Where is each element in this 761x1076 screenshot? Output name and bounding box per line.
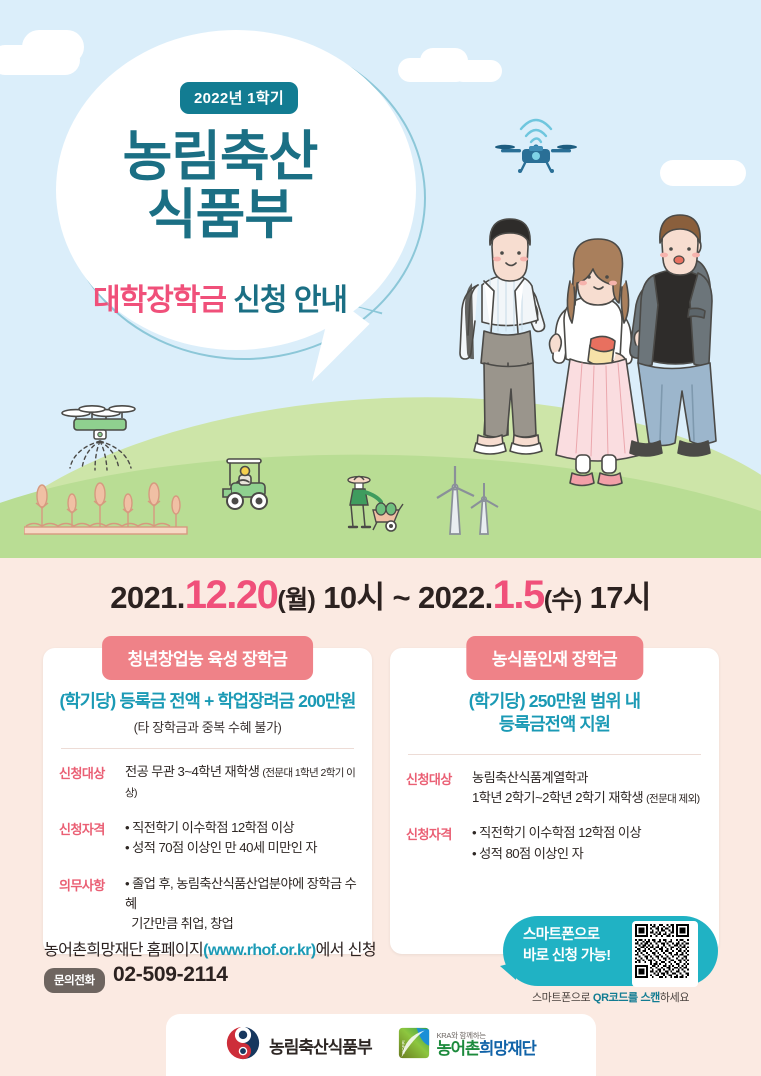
qr-caption: 스마트폰으로 QR코드를 스캔하세요 — [503, 989, 718, 1005]
spacer — [43, 806, 372, 815]
foundation-name-green: 농어촌 — [437, 1040, 480, 1058]
card-header: 농식품인재 장학금 — [466, 636, 643, 680]
term-badge: 2022년 1학기 — [180, 82, 298, 114]
scholarship-card-youth-farmer: 청년창업농 육성 장학금 (학기당) 등록금 전액 + 학업장려금 200만원 … — [43, 648, 372, 954]
row-line: • 성적 80점 이상인 자 — [472, 844, 641, 864]
row-label: 신청대상 — [406, 768, 472, 809]
date-start-time: 10시 ~ — [315, 580, 418, 615]
scholarship-card-agrifood-talent: 농식품인재 장학금 (학기당) 250만원 범위 내 등록금전액 지원 신청대상… — [390, 648, 719, 954]
row-body: • 직전학기 이수학점 12학점 이상 • 성적 70점 이상인 만 40세 미… — [125, 818, 317, 859]
cloud-icon — [660, 160, 746, 186]
rhof-leaf-icon: KOFPI — [398, 1027, 430, 1064]
tractor-icon — [215, 455, 277, 524]
card-header: 청년창업농 육성 장학금 — [102, 636, 314, 680]
qr-caption-bold: QR코드를 스캔 — [593, 992, 660, 1004]
row-body: • 직전학기 이수학점 12학점 이상 • 성적 80점 이상인 자 — [472, 823, 641, 864]
apply-prefix: 농어촌희망재단 홈페이지 — [44, 942, 203, 959]
date-end-dow: (수) — [544, 586, 582, 614]
title-line-1: 농림축산 — [0, 128, 440, 186]
row-body: 농림축산식품계열학과 1학년 2학기~2학년 2학기 재학생 (전문대 제외) — [472, 768, 700, 809]
application-period: 2021.12.20(월) 10시 ~ 2022.1.5(수) 17시 — [0, 572, 761, 618]
date-year-end: 2022. — [418, 580, 493, 615]
card-amount: (학기당) 등록금 전액 + 학업장려금 200만원 — [43, 686, 372, 713]
card-amount: (학기당) 250만원 범위 내 등록금전액 지원 — [390, 686, 719, 736]
date-end: 1.5 — [493, 573, 544, 617]
row-label: 신청자격 — [59, 818, 125, 859]
foundation-texts: KRA와 함께하는 농어촌희망재단 — [437, 1032, 536, 1059]
qr-code-icon[interactable] — [632, 921, 698, 987]
title-line-2: 식품부 — [0, 186, 440, 244]
row-line: 전공 무관 3~4학년 재학생 (전문대 1학년 2학기 이상) — [125, 762, 358, 803]
card-note: (타 장학금과 중복 수혜 불가) — [43, 717, 372, 736]
apply-instruction: 농어촌희망재단 홈페이지(www.rhof.or.kr)에서 신청 — [44, 936, 376, 960]
cloud-icon — [22, 30, 84, 64]
page-title: 농림축산 식품부 — [0, 128, 440, 245]
wheat-field-icon — [24, 468, 189, 545]
row-line: 1학년 2학기~2학년 2학기 재학생 (전문대 제외) — [472, 788, 700, 808]
date-end-time: 17시 — [582, 580, 651, 615]
date-year-start: 2021. — [110, 580, 185, 615]
scholarship-cards: 청년창업농 육성 장학금 (학기당) 등록금 전액 + 학업장려금 200만원 … — [43, 648, 719, 954]
row-label: 의무사항 — [59, 874, 125, 935]
card-row: 신청대상 농림축산식품계열학과 1학년 2학기~2학년 2학기 재학생 (전문대… — [390, 765, 719, 812]
qr-line-1: 스마트폰으로 — [523, 925, 611, 946]
row-body: • 졸업 후, 농림축산식품산업분야에 장학금 수혜 기간만큼 취업, 창업 — [125, 874, 358, 935]
foundation-logo: KOFPI KRA와 함께하는 농어촌희망재단 — [398, 1027, 536, 1064]
three-students-illustration — [448, 185, 748, 510]
row-line: • 직전학기 이수학점 12학점 이상 — [125, 818, 317, 838]
date-start: 12.20 — [185, 573, 278, 617]
cloud-icon — [452, 60, 502, 82]
row-line: 농림축산식품계열학과 — [472, 768, 700, 788]
poster: 2022년 1학기 농림축산 식품부 대학장학금 신청 안내 — [0, 0, 761, 1076]
tel-number[interactable]: 02-509-2114 — [113, 963, 228, 987]
foundation-name-blue: 희망재단 — [479, 1040, 536, 1058]
apply-suffix: 에서 신청 — [316, 942, 376, 959]
korea-government-taegeuk-icon — [226, 1026, 260, 1065]
farmer-wheelbarrow-icon — [345, 470, 405, 537]
card-row: 신청자격 • 직전학기 이수학점 12학점 이상 • 성적 80점 이상인 자 — [390, 820, 719, 867]
subtitle-highlight: 대학장학금 — [93, 284, 226, 317]
row-line-text: 전공 무관 3~4학년 재학생 — [125, 764, 262, 779]
page-subtitle: 대학장학금 신청 안내 — [0, 275, 440, 319]
divider — [61, 748, 354, 749]
hero-section: 2022년 1학기 농림축산 식품부 대학장학금 신청 안내 — [0, 0, 761, 558]
row-line-note: (전문대 제외) — [646, 793, 699, 805]
tel-badge: 문의전화 — [44, 968, 105, 993]
spacer — [43, 862, 372, 871]
subtitle-rest: 신청 안내 — [226, 284, 347, 317]
row-line: • 졸업 후, 농림축산식품산업분야에 장학금 수혜 — [125, 874, 358, 915]
row-line: 기간만큼 취업, 창업 — [125, 914, 358, 934]
foundation-tagline: KRA와 함께하는 — [437, 1032, 536, 1040]
foundation-name: 농어촌희망재단 — [437, 1040, 536, 1058]
svg-text:KOFPI: KOFPI — [401, 1040, 406, 1053]
spacer — [390, 811, 719, 820]
drone-icon — [495, 103, 577, 178]
row-label: 신청대상 — [59, 762, 125, 803]
card-row: 신청대상 전공 무관 3~4학년 재학생 (전문대 1학년 2학기 이상) — [43, 759, 372, 806]
apply-url[interactable]: (www.rhof.or.kr) — [203, 942, 315, 959]
ministry-logo: 농림축산식품부 — [226, 1026, 371, 1065]
row-line-text: 1학년 2학기~2학년 2학기 재학생 — [472, 790, 646, 805]
divider — [408, 754, 701, 755]
row-body: 전공 무관 3~4학년 재학생 (전문대 1학년 2학기 이상) — [125, 762, 358, 803]
date-start-dow: (월) — [277, 586, 315, 614]
logo-panel: 농림축산식품부 KOFPI — [166, 1014, 596, 1076]
qr-caption-post: 하세요 — [660, 992, 689, 1004]
row-line: • 성적 70점 이상인 만 40세 미만인 자 — [125, 838, 317, 858]
ministry-name: 농림축산식품부 — [269, 1033, 371, 1058]
qr-bubble-text: 스마트폰으로 바로 신청 가능! — [523, 925, 611, 967]
row-line: • 직전학기 이수학점 12학점 이상 — [472, 823, 641, 843]
logo-row: 농림축산식품부 KOFPI — [166, 1014, 596, 1076]
card-row: 신청자격 • 직전학기 이수학점 12학점 이상 • 성적 70점 이상인 만 … — [43, 815, 372, 862]
qr-line-2: 바로 신청 가능! — [523, 946, 611, 967]
card-row: 의무사항 • 졸업 후, 농림축산식품산업분야에 장학금 수혜 기간만큼 취업,… — [43, 871, 372, 938]
spraying-drone-icon — [58, 400, 168, 477]
row-label: 신청자격 — [406, 823, 472, 864]
qr-caption-pre: 스마트폰으로 — [532, 992, 593, 1004]
